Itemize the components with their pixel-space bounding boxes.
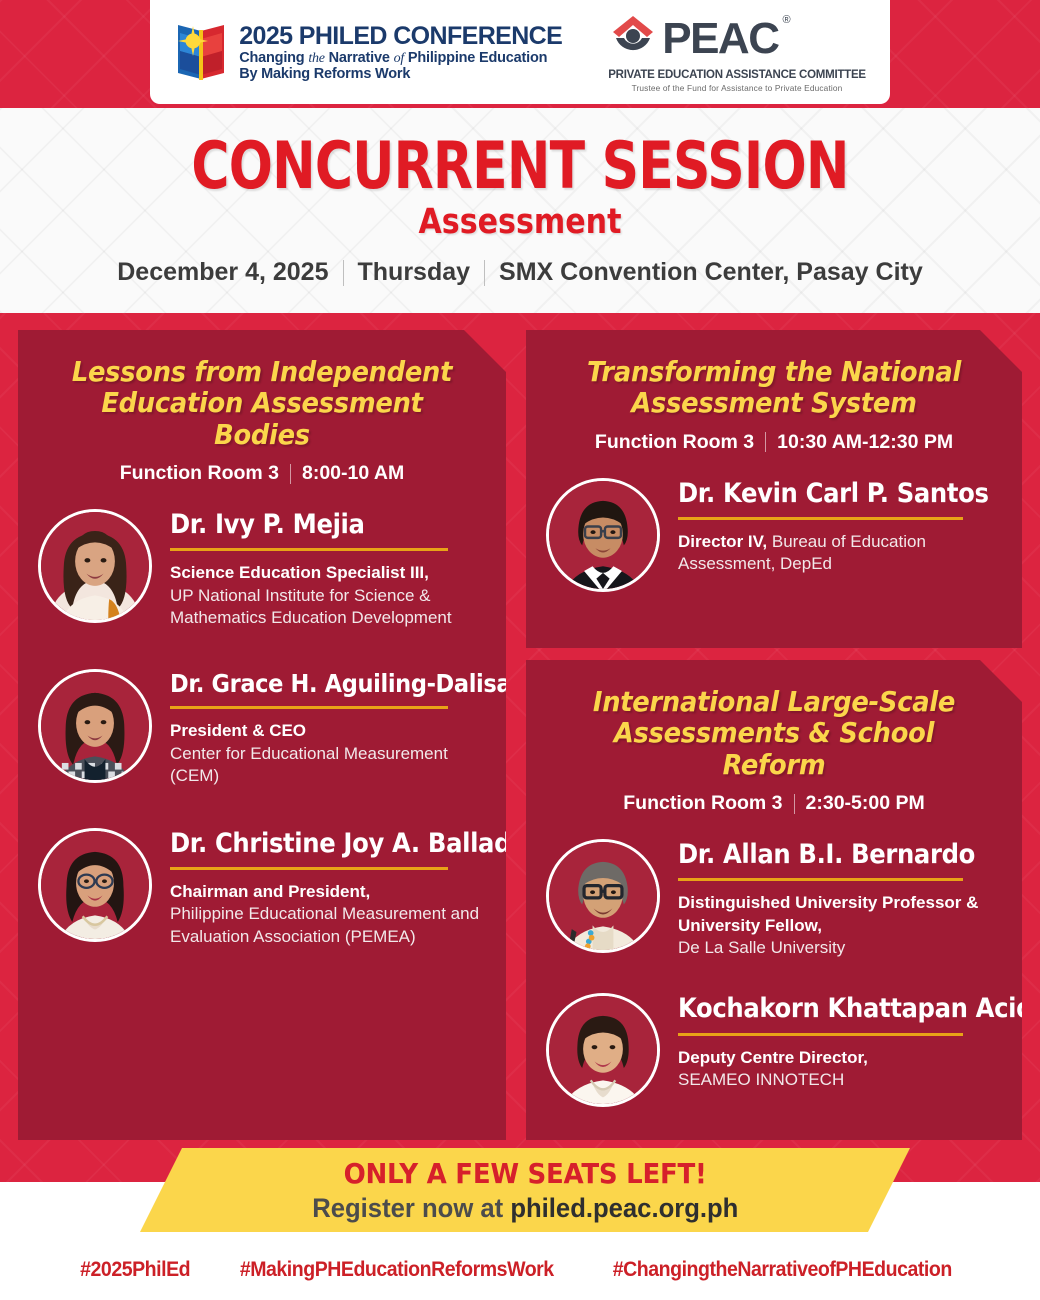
speaker-info: Dr. Ivy P. Mejia Science Education Speci… (170, 509, 486, 629)
speaker-role: President & CEO Center for Educational M… (170, 720, 486, 787)
speaker-role: Science Education Specialist III, UP Nat… (170, 562, 486, 629)
conference-tagline-line2: By Making Reforms Work (239, 66, 562, 82)
speaker-affiliation: Center for Educational Measurement (CEM) (170, 743, 486, 788)
speaker-role-container: Director IV, Bureau of Education Assessm… (678, 532, 926, 573)
conference-wordmark: 2025 PHILED CONFERENCE Changing the Narr… (239, 22, 562, 83)
speaker-role-title: Distinguished University Professor & Uni… (678, 893, 978, 934)
peac-logo: PEAC ® PRIVATE EDUCATION ASSISTANCE COMM… (608, 12, 866, 93)
conference-session-poster: 2025 PHILED CONFERENCE Changing the Narr… (0, 0, 1040, 1300)
session-meta: Function Room 3 8:00-10 AM (38, 462, 486, 485)
session-meta: Function Room 3 2:30-5:00 PM (546, 792, 1002, 815)
session-panel-international-large-scale-assessments-school-reform: International Large-Scale Assessments & … (526, 660, 1022, 1140)
conference-title: 2025 PHILED CONFERENCE (239, 22, 562, 50)
portrait-woman-white-dress (549, 996, 657, 1104)
avatar (38, 828, 152, 942)
session-column-left: Lessons from Independent Education Asses… (18, 330, 506, 1140)
registration-cta-banner[interactable]: ONLY A FEW SEATS LEFT! Register now at p… (140, 1148, 910, 1232)
speaker-role-title: President & CEO (170, 721, 306, 740)
divider (678, 1033, 963, 1036)
page-subtitle: Assessment (73, 202, 967, 242)
sessions-container: Lessons from Independent Education Asses… (18, 330, 1022, 1140)
page-title: CONCURRENT SESSION (104, 136, 936, 198)
hashtag-bar: #2025PhilEd #MakingPHEducationReformsWor… (0, 1240, 1040, 1300)
cta-banner-area: ONLY A FEW SEATS LEFT! Register now at p… (0, 1140, 1040, 1240)
session-time: 8:00-10 AM (291, 462, 415, 485)
speaker-role: Director IV, Bureau of Education Assessm… (678, 531, 1002, 576)
session-column-right: Transforming the National Assessment Sys… (526, 330, 1022, 1140)
session-time: 2:30-5:00 PM (795, 792, 936, 815)
philippine-flag-book-icon (174, 21, 228, 83)
peac-full-name: PRIVATE EDUCATION ASSISTANCE COMMITTEE (608, 69, 866, 81)
speaker-affiliation: De La Salle University (678, 937, 1002, 959)
speaker-card: Dr. Kevin Carl P. Santos Director IV, Bu… (546, 478, 1002, 592)
session-panel-lessons-from-independent-education-assessment-bodies: Lessons from Independent Education Asses… (18, 330, 506, 1140)
session-room: Function Room 3 (584, 431, 765, 454)
divider (678, 878, 963, 881)
header-band: CONCURRENT SESSION Assessment December 4… (0, 108, 1040, 313)
event-venue: SMX Convention Center, Pasay City (485, 258, 937, 287)
avatar (38, 509, 152, 623)
speaker-info: Dr. Grace H. Aguiling-Dalisay President … (170, 669, 486, 787)
speaker-name: Dr. Ivy P. Mejia (170, 511, 454, 539)
avatar (546, 993, 660, 1107)
divider (170, 867, 448, 870)
session-room: Function Room 3 (612, 792, 793, 815)
speaker-name: Dr. Allan B.I. Bernardo (678, 841, 970, 869)
peac-trustee-line: Trustee of the Fund for Assistance to Pr… (608, 83, 866, 93)
session-title: Transforming the National Assessment Sys… (564, 356, 984, 419)
event-day: Thursday (344, 258, 485, 287)
session-time: 10:30 AM-12:30 PM (766, 431, 964, 454)
speaker-role: Distinguished University Professor & Uni… (678, 892, 1002, 959)
portrait-man-glasses-barong (549, 842, 657, 950)
session-panel-transforming-the-national-assessment-system: Transforming the National Assessment Sys… (526, 330, 1022, 648)
hashtag-item: #ChangingtheNarrativeofPHEducation (612, 1258, 951, 1282)
speaker-role-title: Science Education Specialist III, (170, 563, 429, 582)
event-date: December 4, 2025 (103, 258, 342, 287)
logo-bar: 2025 PHILED CONFERENCE Changing the Narr… (150, 0, 890, 104)
speaker-role: Deputy Centre Director, SEAMEO INNOTECH (678, 1047, 1002, 1092)
event-details: December 4, 2025 Thursday SMX Convention… (0, 258, 1040, 287)
speaker-affiliation: SEAMEO INNOTECH (678, 1069, 1002, 1091)
seats-left-notice: ONLY A FEW SEATS LEFT! (344, 1157, 707, 1190)
registration-url[interactable]: philed.peac.org.ph (510, 1193, 738, 1223)
speaker-name: Dr. Christine Joy A. Ballada (170, 830, 454, 858)
conference-tagline-line1: Changing the Narrative of Philippine Edu… (239, 50, 562, 67)
speaker-name: Dr. Kevin Carl P. Santos (678, 480, 970, 508)
registered-trademark-icon: ® (782, 14, 790, 26)
divider (170, 548, 448, 551)
portrait-man-glasses-suit (549, 481, 657, 589)
speaker-info: Kochakorn Khattapan Acidre Deputy Centre… (678, 993, 1002, 1091)
speaker-card: Dr. Allan B.I. Bernardo Distinguished Un… (546, 839, 1002, 959)
session-title: Lessons from Independent Education Asses… (56, 356, 468, 450)
portrait-woman-checkered-blazer (41, 672, 149, 780)
hashtag-item: #MakingPHEducationReformsWork (240, 1258, 554, 1282)
speaker-role-title: Director IV, (678, 532, 767, 551)
session-title: International Large-Scale Assessments & … (564, 686, 984, 780)
avatar (38, 669, 152, 783)
speaker-name: Kochakorn Khattapan Acidre (678, 995, 970, 1023)
speaker-info: Dr. Kevin Carl P. Santos Director IV, Bu… (678, 478, 1002, 576)
speaker-info: Dr. Christine Joy A. Ballada Chairman an… (170, 828, 486, 948)
speaker-role-title: Deputy Centre Director, (678, 1048, 868, 1067)
speaker-card: Dr. Ivy P. Mejia Science Education Speci… (38, 509, 486, 629)
speaker-card: Dr. Christine Joy A. Ballada Chairman an… (38, 828, 486, 948)
speaker-affiliation: UP National Institute for Science & Math… (170, 585, 486, 630)
speaker-card: Dr. Grace H. Aguiling-Dalisay President … (38, 669, 486, 787)
hashtag-item: #2025PhilEd (80, 1258, 190, 1282)
portrait-woman-long-hair (41, 512, 149, 620)
divider (678, 517, 963, 520)
peac-house-eye-icon (608, 12, 658, 67)
speaker-info: Dr. Allan B.I. Bernardo Distinguished Un… (678, 839, 1002, 959)
philed-conference-logo: 2025 PHILED CONFERENCE Changing the Narr… (174, 21, 562, 83)
speaker-role-title: Chairman and President, (170, 882, 370, 901)
divider (170, 706, 448, 709)
session-meta: Function Room 3 10:30 AM-12:30 PM (546, 431, 1002, 454)
portrait-woman-glasses (41, 831, 149, 939)
session-room: Function Room 3 (109, 462, 290, 485)
speaker-role: Chairman and President, Philippine Educa… (170, 881, 486, 948)
speaker-name: Dr. Grace H. Aguiling-Dalisay (170, 671, 454, 697)
avatar (546, 478, 660, 592)
register-now-line: Register now at philed.peac.org.ph (312, 1193, 738, 1224)
peac-wordmark: PEAC (662, 18, 778, 60)
avatar (546, 839, 660, 953)
speaker-card: Kochakorn Khattapan Acidre Deputy Centre… (546, 993, 1002, 1107)
speaker-affiliation: Philippine Educational Measurement and E… (170, 903, 486, 948)
